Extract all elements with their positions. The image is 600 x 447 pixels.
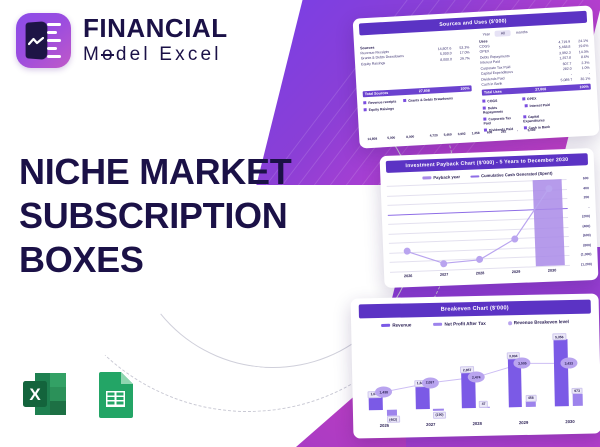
revenue-value-label: 5,356: [552, 333, 566, 340]
poster-canvas: FINANCIAL Model Excel NICHE MARKET SUBSC…: [0, 0, 600, 447]
legend-item-npat: Net Profit After Tax: [433, 321, 485, 327]
breakeven-plot-area: 1,040(462)1,4381,840(190)2,0972,857472,4…: [359, 329, 593, 422]
brand-logo: FINANCIAL Model Excel: [16, 13, 228, 68]
revenue-bar: [553, 340, 568, 407]
google-sheets-icon: [89, 368, 141, 420]
brand-name-secondary: Model Excel: [83, 43, 228, 67]
headline-line-3: BOXES: [19, 238, 291, 282]
bar-group: 5,3569733,433: [545, 329, 593, 418]
legend-item-breakeven-level: Revenue Breakeven level: [508, 319, 569, 325]
y-axis-tick: (600): [583, 233, 591, 237]
sources-and-uses-card[interactable]: Sources and Uses ($'000) Year All months…: [353, 5, 600, 148]
x-axis-tick: 2026: [361, 422, 408, 428]
svg-text:X: X: [29, 385, 41, 404]
y-axis-tick: (800): [583, 243, 591, 247]
bar-group: 2,857472,474: [452, 331, 500, 420]
payback-gridlines: [387, 179, 570, 272]
legend-item-payback-year: Payback year: [422, 174, 460, 180]
y-axis-tick: 600: [583, 176, 589, 180]
x-axis-tick: 2029: [500, 420, 547, 426]
sparkline-icon: [28, 37, 44, 46]
microsoft-excel-icon: X: [19, 368, 71, 420]
y-axis-tick: (400): [582, 224, 590, 228]
bar-group: 1,040(462)1,438: [359, 332, 407, 421]
payback-plot-area: 600400200-(200)(400)(600)(800)(1,000)(1,…: [387, 178, 592, 272]
revenue-bar: [415, 386, 429, 409]
npat-value-label: 458: [525, 395, 536, 402]
uses-legend: COGS OPEX Debts Repayments Interest Paid…: [482, 94, 593, 133]
x-axis-tick: 2027: [408, 421, 455, 427]
filter-suffix: months: [516, 30, 528, 35]
npat-bar: [387, 410, 397, 416]
breakeven-card[interactable]: Breakeven Chart ($'000) Revenue Net Prof…: [351, 293, 600, 438]
npat-value-label: (190): [433, 412, 446, 419]
file-format-icons: X: [19, 368, 141, 420]
x-axis-tick: 2030: [547, 419, 594, 425]
y-axis-tick: 200: [584, 195, 590, 199]
y-axis-tick: -: [588, 205, 589, 209]
filter-value[interactable]: All: [495, 30, 511, 37]
legend-item-revenue: Revenue: [381, 322, 411, 328]
bar-group: 1,840(190)2,097: [406, 331, 454, 420]
spreadsheet-chart-icon: [16, 13, 71, 68]
breakeven-title: Breakeven Chart ($'000): [359, 300, 591, 319]
brand-name-primary: FINANCIAL: [83, 15, 228, 41]
legend-item-cumulative-cash: Cumulative Cash Generated (Spent): [470, 171, 553, 179]
npat-value-label: (462): [387, 416, 400, 423]
filter-label: Year: [482, 32, 489, 36]
breakeven-marker: 3,505: [514, 358, 531, 369]
page-title: NICHE MARKET SUBSCRIPTION BOXES: [19, 150, 291, 282]
npat-bar: [526, 401, 536, 407]
bar-group: 3,9044583,505: [498, 330, 546, 419]
sources-legend: Revenue receipts Grants & Debts Drawdown…: [363, 96, 472, 113]
investment-payback-card[interactable]: Investment Payback Chart ($'000) - 5 Yea…: [380, 148, 599, 288]
x-axis-tick: 2028: [454, 421, 501, 427]
breakeven-marker: 2,097: [421, 377, 438, 388]
breakeven-marker: 1,438: [375, 386, 392, 397]
headline-line-2: SUBSCRIPTION: [19, 194, 291, 238]
breakeven-legend: Revenue Net Profit After Tax Revenue Bre…: [359, 319, 591, 329]
document-lines-icon: [47, 23, 62, 58]
npat-bar: [572, 394, 582, 406]
y-axis-tick: 400: [583, 186, 589, 190]
payback-y-axis: 600400200-(200)(400)(600)(800)(1,000)(1,…: [567, 178, 592, 265]
sources-column: Sources Revenue Receipts14,807.653.3% Gr…: [360, 40, 474, 139]
breakeven-marker: 2,474: [468, 371, 485, 382]
uses-column: Uses COGS4,719.924.1% OPEX5,468.819.6% D…: [479, 34, 593, 133]
npat-value-label: 47: [479, 401, 488, 408]
y-axis-tick: (1,200): [581, 262, 592, 266]
brand-crossed-o: o: [102, 43, 116, 67]
y-axis-tick: (200): [582, 214, 590, 218]
npat-bar: [433, 409, 443, 412]
revenue-bar: [369, 397, 383, 410]
npat-value-label: 973: [572, 387, 583, 394]
breakeven-marker: 3,433: [560, 358, 577, 369]
headline-line-1: NICHE MARKET: [19, 150, 291, 194]
y-axis-tick: (1,000): [581, 253, 592, 257]
